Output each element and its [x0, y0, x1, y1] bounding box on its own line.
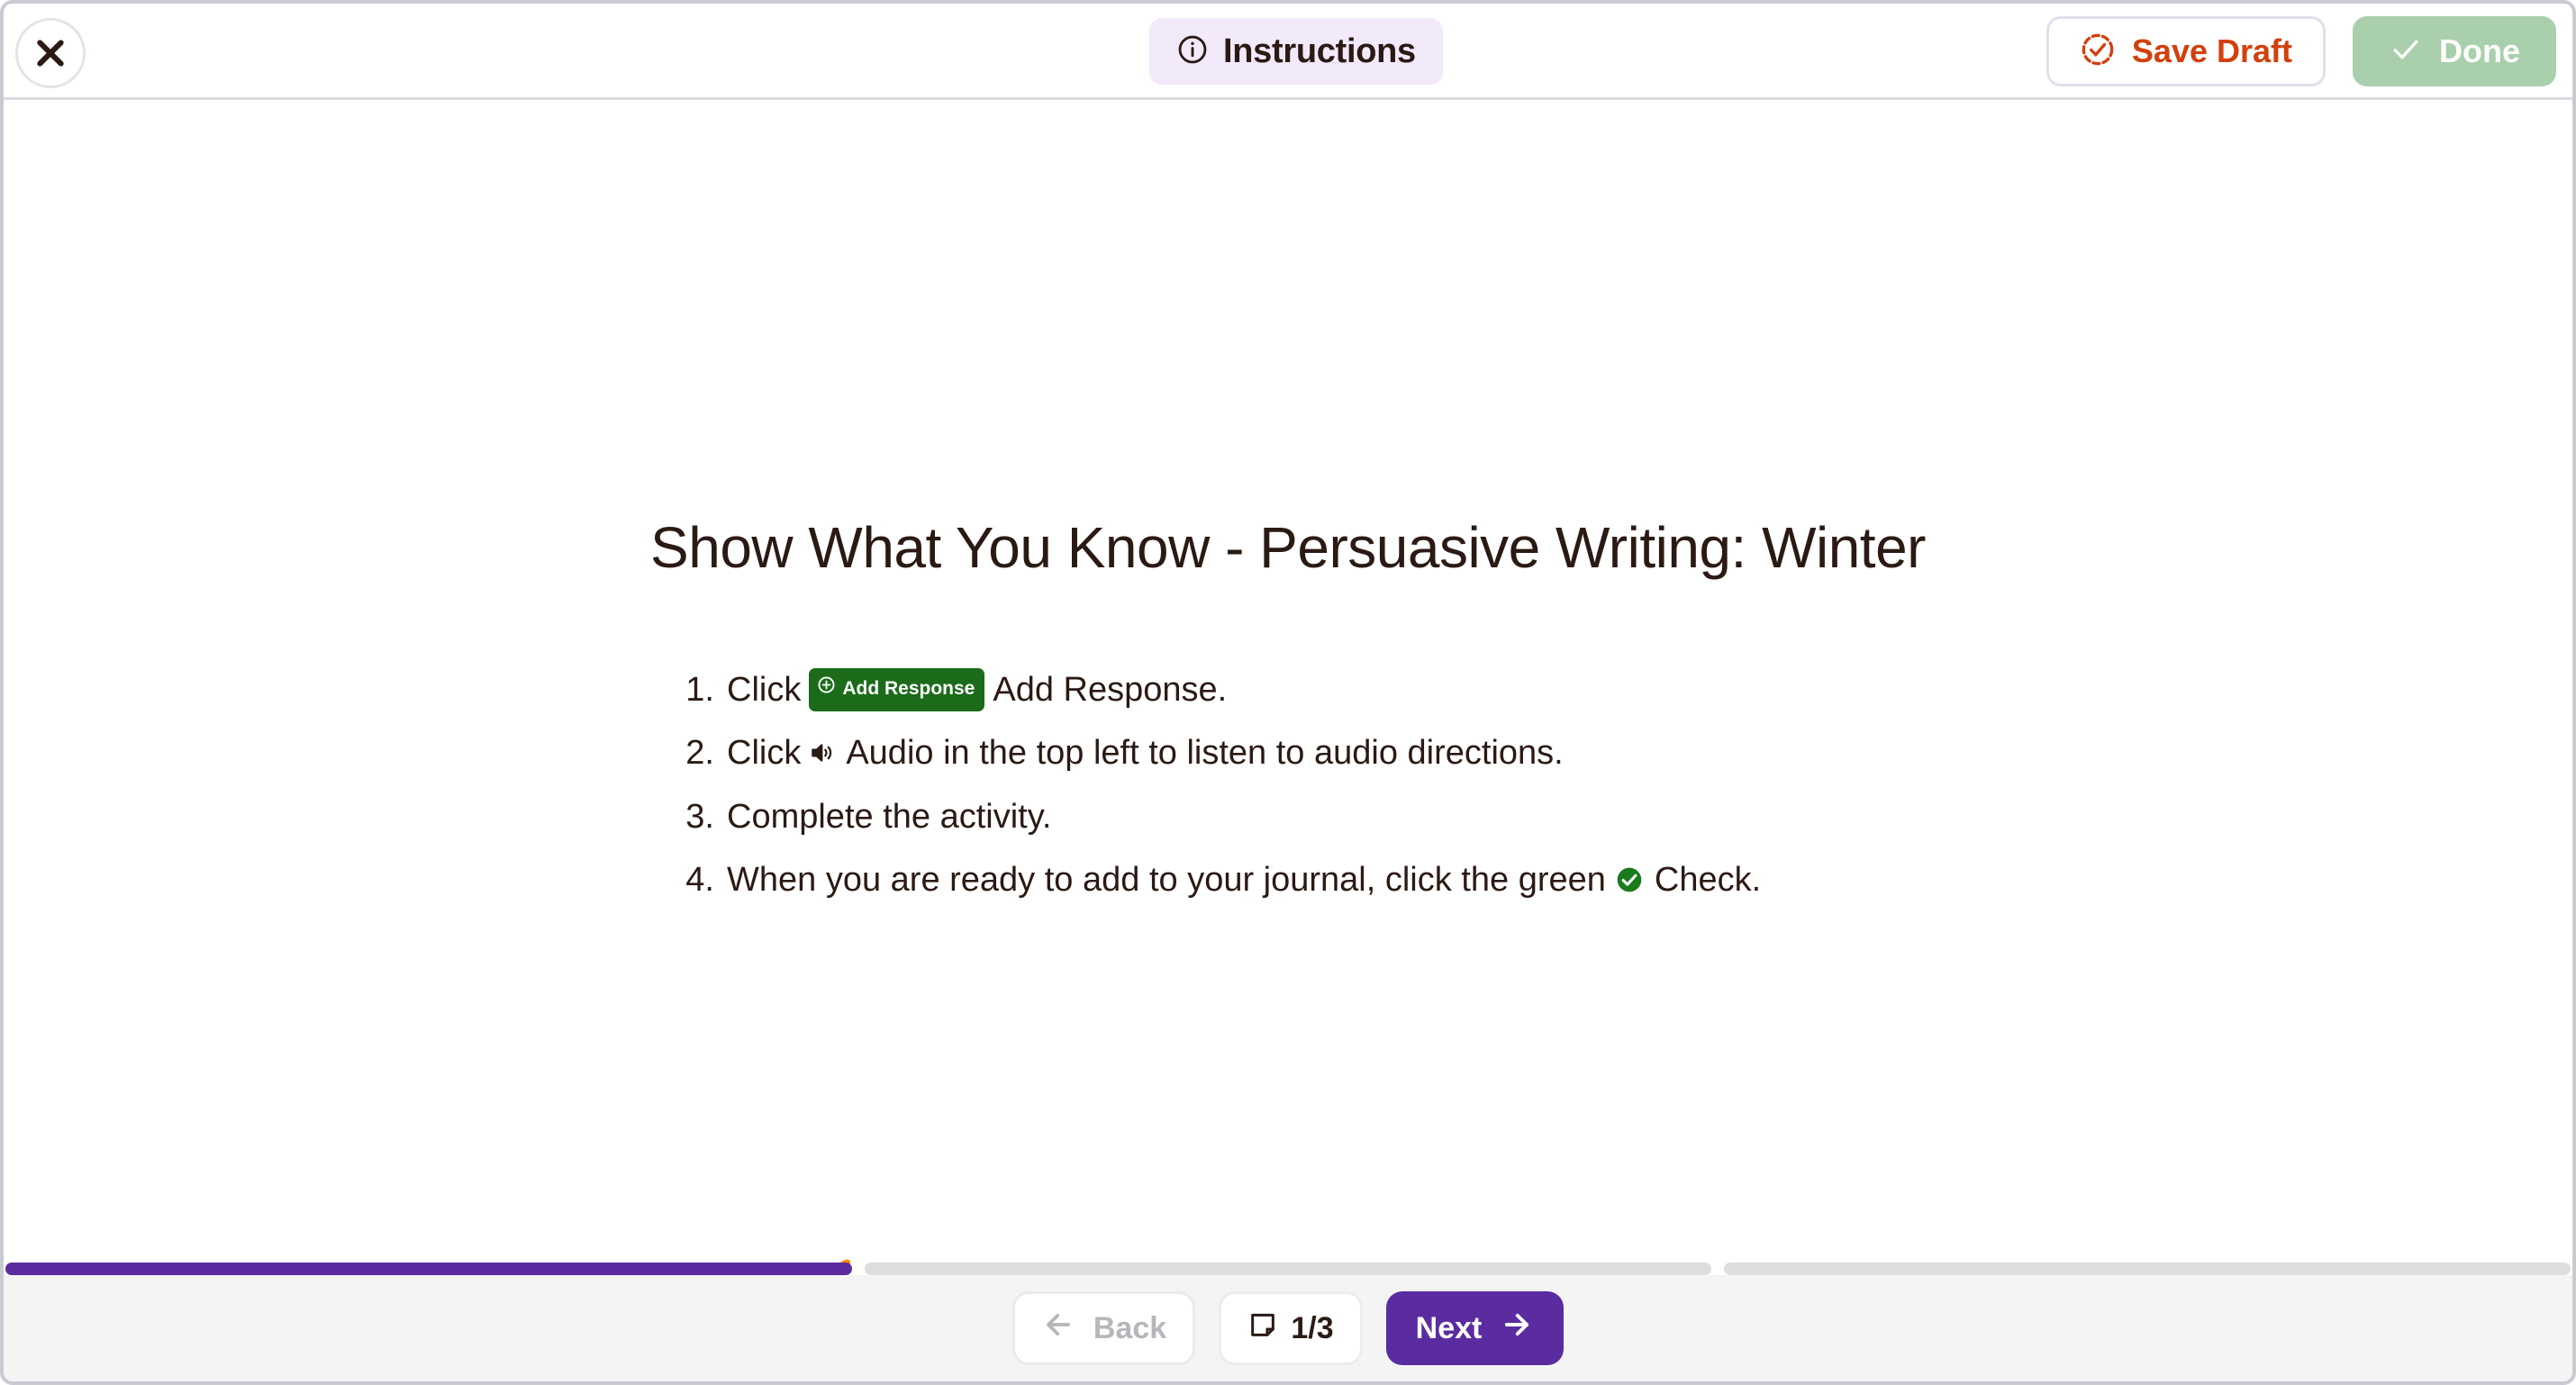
- check-circle-dashed-icon: [2080, 32, 2116, 72]
- step-text: Click Add Response Add Response.: [727, 658, 1227, 721]
- close-icon: [32, 35, 68, 71]
- step-number: 3.: [675, 785, 714, 848]
- step-number: 1.: [675, 658, 714, 721]
- step-number: 2.: [675, 721, 714, 784]
- next-button[interactable]: Next: [1386, 1291, 1564, 1365]
- step-text-before: Click: [727, 721, 801, 784]
- back-label: Back: [1093, 1311, 1166, 1346]
- step-text-after: Add Response.: [993, 658, 1227, 721]
- list-item: 2. Click Audio in the top left to listen…: [675, 721, 2026, 784]
- page-title: Show What You Know - Persuasive Writing:…: [4, 514, 2572, 581]
- instructions-label: Instructions: [1223, 32, 1416, 71]
- done-label: Done: [2439, 32, 2520, 70]
- step-text-before: Click: [727, 658, 801, 721]
- top-toolbar: Instructions Save Draft Done: [4, 4, 2572, 100]
- list-item: 4. When you are ready to add to your jou…: [675, 848, 2026, 911]
- next-label: Next: [1416, 1311, 1483, 1346]
- bottom-navigation-bar: Back 1/3 Next: [4, 1275, 2572, 1381]
- add-response-chip[interactable]: Add Response: [809, 668, 984, 711]
- step-text-after: Check.: [1655, 848, 1761, 911]
- step-text: When you are ready to add to your journa…: [727, 848, 1761, 911]
- plus-circle-icon: [817, 672, 836, 707]
- close-button[interactable]: [15, 18, 86, 88]
- instruction-steps-list: 1. Click Add Response Add Resp: [675, 658, 2026, 911]
- step-text: Click Audio in the top left to listen to…: [727, 721, 1564, 784]
- list-item: 1. Click Add Response Add Resp: [675, 658, 2026, 721]
- audio-speaker-icon: [809, 739, 836, 766]
- slide-content-area: Show What You Know - Persuasive Writing:…: [4, 100, 2572, 1275]
- info-circle-icon: [1176, 33, 1209, 70]
- save-draft-button[interactable]: Save Draft: [2046, 16, 2326, 86]
- step-number: 4.: [675, 848, 714, 911]
- save-draft-label: Save Draft: [2132, 32, 2292, 70]
- page-indicator-label: 1/3: [1291, 1311, 1333, 1346]
- list-item: 3. Complete the activity.: [675, 785, 2026, 848]
- lesson-player-window: Instructions Save Draft Done Show What Y…: [0, 0, 2576, 1385]
- back-button[interactable]: Back: [1012, 1291, 1195, 1365]
- arrow-left-icon: [1041, 1308, 1075, 1350]
- check-icon: [2389, 32, 2423, 71]
- step-text-before: When you are ready to add to your journa…: [727, 848, 1606, 911]
- progress-segment-1: [5, 1263, 852, 1275]
- step-text: Complete the activity.: [727, 785, 1051, 848]
- check-circle-filled-icon: [1615, 865, 1644, 894]
- page-icon: [1247, 1309, 1278, 1348]
- step-text-before: Complete the activity.: [727, 785, 1051, 848]
- progress-segment-2: [865, 1263, 1711, 1275]
- progress-segment-3: [1724, 1263, 2571, 1275]
- instructions-badge[interactable]: Instructions: [1149, 18, 1443, 85]
- step-text-after: Audio in the top left to listen to audio…: [846, 721, 1563, 784]
- arrow-right-icon: [1500, 1308, 1534, 1350]
- done-button[interactable]: Done: [2353, 16, 2556, 86]
- page-indicator[interactable]: 1/3: [1219, 1291, 1363, 1365]
- add-response-chip-label: Add Response: [842, 672, 975, 707]
- progress-bar: [4, 1263, 2572, 1275]
